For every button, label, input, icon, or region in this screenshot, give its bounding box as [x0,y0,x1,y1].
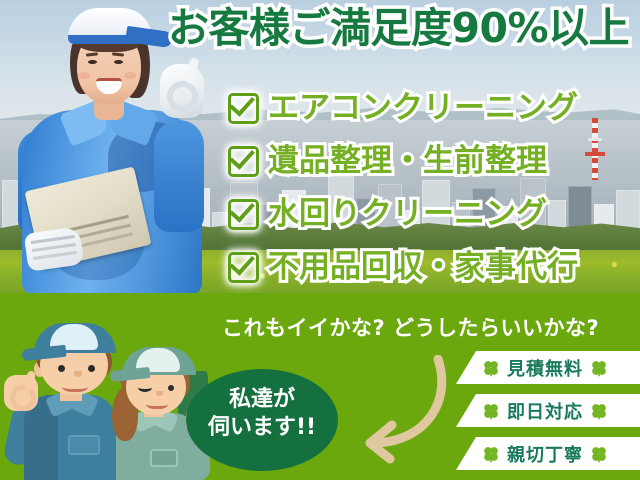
speech-line-2: 伺います!! [186,414,338,442]
ok-gesture-glove-icon [160,64,204,118]
clover-icon [590,359,608,377]
service-item-1: エアコンクリーニング [228,82,640,135]
checkbox-checked-icon [228,252,259,283]
service-label: エアコンクリーニング [268,93,578,124]
hero-photo-section: お客様ご満足度90%以上 エアコンクリーニング 遺品整理・生前整理 水回りクリー… [0,0,640,293]
service-checklist: エアコンクリーニング 遺品整理・生前整理 水回りクリーニング 不用品回収・家事代… [228,82,640,293]
speech-bubble-text: 私達が 伺います!! [186,386,338,442]
clover-icon [482,359,500,377]
service-label: 遺品整理・生前整理 [268,146,547,177]
service-label: 水回りクリーニング [268,199,547,230]
clover-icon [590,402,608,420]
checkbox-checked-icon [228,199,259,230]
advertisement-banner: お客様ご満足度90%以上 エアコンクリーニング 遺品整理・生前整理 水回りクリー… [0,0,640,480]
service-item-2: 遺品整理・生前整理 [228,135,640,188]
badge-label: 親切丁寧 [507,441,583,467]
service-label: 不用品回収・家事代行 [268,252,578,283]
clover-icon [482,445,500,463]
ok-hand-icon [4,375,38,411]
speech-line-1: 私達が [186,386,338,414]
clover-icon [590,445,608,463]
curved-arrow-left-icon [330,355,450,465]
clover-icon [482,402,500,420]
feature-badge-same-day[interactable]: 即日対応 [456,394,640,427]
badge-label: 見積無料 [507,355,583,381]
service-item-3: 水回りクリーニング [228,188,640,241]
feature-badge-quote-free[interactable]: 見積無料 [456,351,640,384]
checkbox-checked-icon [228,93,259,124]
feature-badge-polite[interactable]: 親切丁寧 [456,437,640,470]
mascot-illustration [0,309,205,480]
page-title: お客様ご満足度90%以上 [168,6,638,50]
feature-badge-list: 見積無料 即日対応 [456,351,640,480]
cta-panel: これもイイかな? どうしたらいいかな? [0,293,640,480]
panel-question-text: これもイイかな? どうしたらいいかな? [222,312,599,342]
service-item-4: 不用品回収・家事代行 [228,241,640,293]
badge-label: 即日対応 [507,398,583,424]
checkbox-checked-icon [228,146,259,177]
